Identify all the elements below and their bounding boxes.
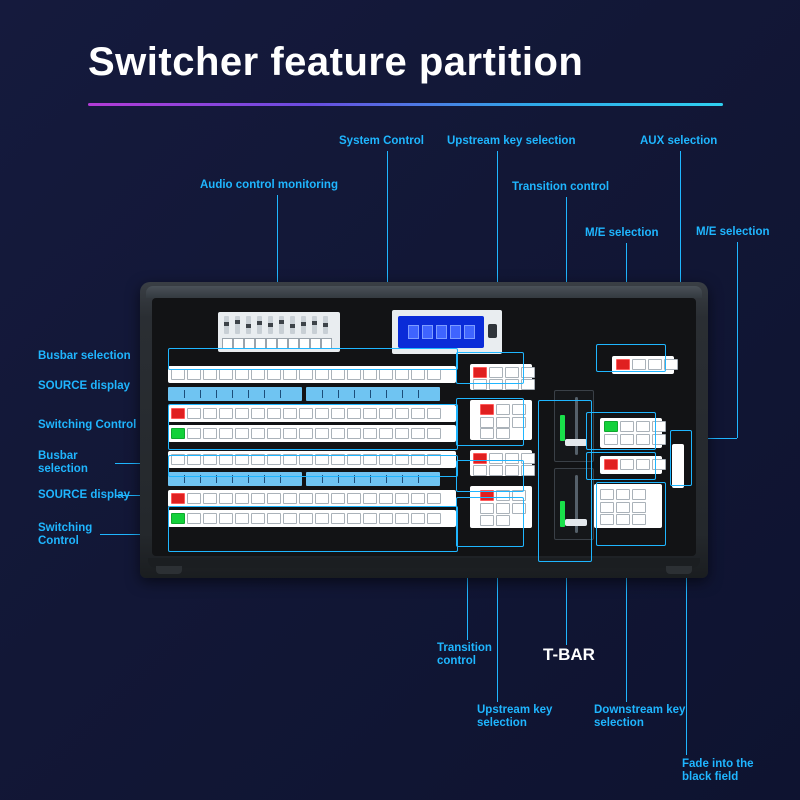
leader-system-control [387,151,388,301]
label-upstream-key-selection-top: Upstream key selection [447,135,575,148]
title-underline [88,103,723,106]
console-panel [152,298,696,556]
label-downstream-key-selection: Downstream key selection [594,704,685,730]
downstream-key-pad[interactable] [594,484,662,528]
label-me-selection-right: M/E selection [696,226,770,239]
system-control-knob[interactable] [488,324,497,338]
system-control-module[interactable] [392,310,502,354]
me-selection-pad-right[interactable] [600,456,662,474]
label-busbar-selection-2: Busbar selection [38,450,88,476]
transition-control-pad-2[interactable] [470,486,532,528]
switching-control-preview-1[interactable] [168,425,456,442]
switching-control-preview-2[interactable] [168,510,456,527]
t-bar-lower[interactable] [554,468,594,540]
label-upstream-key-selection-bottom: Upstream key selection [477,704,552,730]
switching-control-program-2[interactable] [168,490,456,507]
aux-selection-pad[interactable] [612,356,674,374]
switcher-console [140,282,708,578]
me-selection-pad-left[interactable] [600,418,662,448]
label-fade-into-black-field: Fade into the black field [682,758,754,784]
label-audio-control-monitoring: Audio control monitoring [200,179,338,192]
busbar-selection-row-1[interactable] [168,366,456,383]
leader-me-right [737,242,738,438]
source-display-2b [306,472,440,486]
source-display-1b [306,387,440,401]
diagram-root: Switcher feature partition Audio control… [0,0,800,800]
console-foot [148,558,700,568]
source-display-2a [168,472,302,486]
label-switching-control-1: Switching Control [38,419,136,432]
audio-control-module[interactable] [218,312,340,352]
label-source-display-1: SOURCE display [38,380,130,393]
source-display-1a [168,387,302,401]
label-busbar-selection-1: Busbar selection [38,350,131,363]
transition-control-pad-1[interactable] [470,400,532,440]
fade-to-black-pad[interactable] [672,444,684,488]
t-bar-upper[interactable] [554,390,594,462]
label-switching-control-2: Switching Control [38,522,92,548]
label-t-bar: T-BAR [543,648,595,661]
lcd-screen [398,316,484,348]
label-me-selection-left: M/E selection [585,227,659,240]
label-aux-selection: AUX selection [640,135,717,148]
upstream-key-pad-1[interactable] [470,364,532,390]
busbar-selection-row-2[interactable] [168,451,456,468]
upstream-key-pad-2[interactable] [470,450,532,476]
console-top-strip [146,286,702,298]
label-transition-control-top: Transition control [512,181,609,194]
label-transition-control-bottom: Transition control [437,642,492,668]
switching-control-program-1[interactable] [168,405,456,422]
label-system-control: System Control [339,135,424,148]
page-title: Switcher feature partition [88,40,583,85]
